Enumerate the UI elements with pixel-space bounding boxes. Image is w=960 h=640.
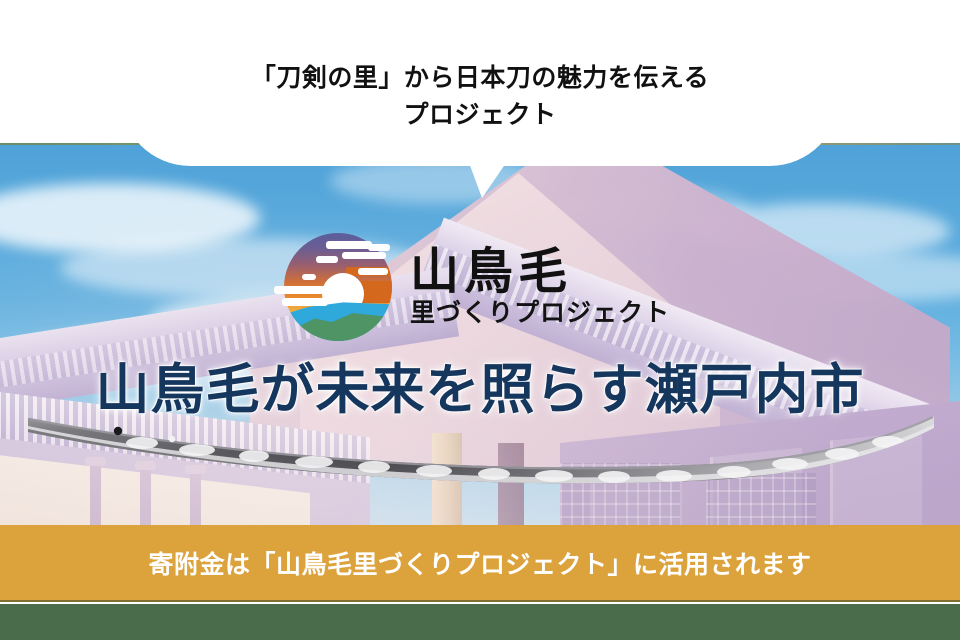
building-column bbox=[498, 443, 524, 525]
emblem-mist bbox=[342, 252, 386, 259]
fence-post-cap bbox=[85, 457, 106, 466]
sunrise-satoyama-emblem-icon bbox=[272, 228, 396, 346]
fence-post bbox=[90, 465, 101, 525]
speech-bubble-line-1: 「刀剣の里」から日本刀の魅力を伝える bbox=[251, 59, 709, 96]
fence-post-cap bbox=[185, 465, 206, 474]
speech-bubble-tail bbox=[468, 160, 508, 200]
emblem-mist bbox=[326, 241, 372, 249]
donation-notice-text: 寄附金は「山鳥毛里づくりプロジェクト」に活用されます bbox=[148, 545, 811, 581]
fence-post-cap bbox=[135, 461, 156, 470]
logo-wordmark: 山鳥毛 里づくりプロジェクト bbox=[410, 247, 670, 326]
logo-main-text: 山鳥毛 bbox=[410, 247, 670, 297]
emblem-mist bbox=[368, 244, 390, 251]
emblem-mist bbox=[282, 298, 328, 306]
donation-notice-bar: 寄附金は「山鳥毛里づくりプロジェクト」に活用されます bbox=[0, 525, 960, 602]
speech-bubble-line-2: プロジェクト bbox=[251, 96, 709, 133]
emblem-mist bbox=[358, 268, 388, 275]
fundraising-banner: 山鳥毛 里づくりプロジェクト 山鳥毛が未来を照らす瀬戸内市 bbox=[0, 0, 960, 640]
page-title: 山鳥毛が未来を照らす瀬戸内市 bbox=[0, 362, 960, 419]
emblem-mist bbox=[274, 286, 326, 294]
window-grid bbox=[706, 473, 816, 525]
project-logo: 山鳥毛 里づくりプロジェクト bbox=[272, 228, 670, 346]
window-panel bbox=[830, 431, 922, 525]
building-column bbox=[432, 433, 462, 525]
emblem-mist bbox=[316, 256, 338, 263]
speech-bubble-text: 「刀剣の里」から日本刀の魅力を伝える プロジェクト bbox=[251, 59, 709, 133]
emblem-mist bbox=[302, 274, 316, 280]
window-grid bbox=[560, 463, 680, 525]
fence-post bbox=[140, 469, 151, 525]
fence-post bbox=[190, 473, 201, 525]
speech-bubble: 「刀剣の里」から日本刀の魅力を伝える プロジェクト bbox=[120, 25, 840, 166]
logo-sub-text: 里づくりプロジェクト bbox=[410, 299, 670, 327]
footer-strip bbox=[0, 604, 960, 640]
